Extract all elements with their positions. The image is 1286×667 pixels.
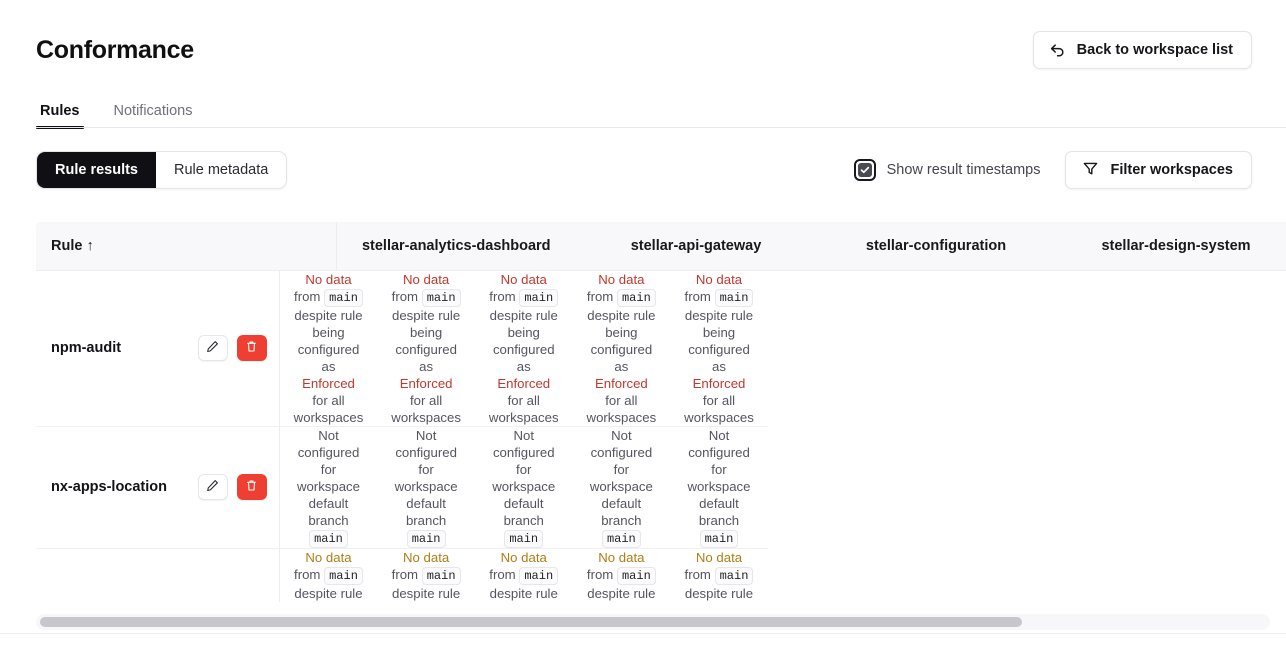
trash-icon <box>245 340 258 356</box>
result-cell: No data from main despite rule being con… <box>573 548 671 602</box>
result-cell: Not configured for workspace default bra… <box>475 426 573 548</box>
branch-chip: main <box>602 530 641 548</box>
no-data-label: No data <box>403 272 449 287</box>
result-cell: No data from main despite rule being con… <box>573 271 671 427</box>
delete-rule-button[interactable] <box>237 335 267 361</box>
branch-chip: main <box>700 530 739 548</box>
column-header-workspace-0[interactable]: stellar-analytics-dashboard <box>336 222 576 270</box>
table-row: nx-apps-locationNot configured for works… <box>36 426 768 548</box>
trash-icon <box>245 479 258 495</box>
result-cell: Not configured for workspace default bra… <box>573 426 671 548</box>
horizontal-scrollbar-track[interactable] <box>36 614 1270 630</box>
segment-rule-metadata[interactable]: Rule metadata <box>156 152 286 188</box>
edit-pencil-icon <box>206 340 219 356</box>
rules-table-viewport: Rule ↑ stellar-analytics-dashboard stell… <box>36 222 1286 602</box>
branch-chip: main <box>407 530 446 548</box>
branch-chip: main <box>324 289 363 307</box>
result-cell: No data from main despite rule being con… <box>670 271 768 427</box>
show-result-timestamps-label: Show result timestamps <box>887 162 1041 178</box>
rule-status-label: Enforced <box>497 376 550 391</box>
result-cell: Not configured for workspace default bra… <box>670 426 768 548</box>
column-header-workspace-2[interactable]: stellar-configuration <box>816 222 1056 270</box>
funnel-icon <box>1082 160 1099 181</box>
page-header: Conformance Back to workspace list <box>0 0 1286 78</box>
branch-chip: main <box>519 289 558 307</box>
rule-name: npm-audit <box>51 340 121 356</box>
toolbar-right-group: Show result timestamps Filter workspaces <box>854 151 1252 189</box>
table-header-row: Rule ↑ stellar-analytics-dashboard stell… <box>36 222 1286 270</box>
rules-table: Rule ↑ stellar-analytics-dashboard stell… <box>36 222 1286 602</box>
no-data-label: No data <box>696 272 742 287</box>
result-cell: No data from main despite rule being con… <box>279 548 377 602</box>
conformance-page: Conformance Back to workspace list Rules… <box>0 0 1286 667</box>
rule-cell: nx-apps-location <box>36 426 279 548</box>
no-data-label: No data <box>696 550 742 565</box>
delete-rule-button[interactable] <box>237 474 267 500</box>
no-data-label: No data <box>501 550 547 565</box>
table-row: use-prettierNo data from main despite ru… <box>36 548 768 602</box>
table-row: npm-auditNo data from main despite rule … <box>36 271 768 427</box>
branch-chip: main <box>519 567 558 585</box>
view-mode-segmented-control: Rule results Rule metadata <box>36 151 287 189</box>
back-to-workspace-list-button[interactable]: Back to workspace list <box>1033 31 1252 69</box>
no-data-label: No data <box>305 272 351 287</box>
branch-chip: main <box>715 289 754 307</box>
rule-status-label: Enforced <box>595 376 648 391</box>
column-header-rule[interactable]: Rule ↑ <box>36 222 336 270</box>
rule-status-label: Enforced <box>302 376 355 391</box>
result-cell: No data from main despite rule being con… <box>377 271 475 427</box>
horizontal-scrollbar-thumb[interactable] <box>40 617 1022 627</box>
bottom-divider <box>0 633 1286 634</box>
no-data-label: No data <box>305 550 351 565</box>
result-cell: Not configured for workspace default bra… <box>279 426 377 548</box>
result-cell: Not configured for workspace default bra… <box>377 426 475 548</box>
tab-bar-divider <box>36 127 1286 128</box>
no-data-label: No data <box>598 550 644 565</box>
result-cell: No data from main despite rule being con… <box>279 271 377 427</box>
edit-rule-button[interactable] <box>198 474 228 500</box>
back-button-label: Back to workspace list <box>1077 42 1233 58</box>
show-result-timestamps-checkbox[interactable]: Show result timestamps <box>854 159 1041 181</box>
branch-chip: main <box>422 567 461 585</box>
edit-pencil-icon <box>206 479 219 495</box>
rule-name: nx-apps-location <box>51 479 167 495</box>
checkbox-checked-icon <box>858 163 872 177</box>
no-data-label: No data <box>501 272 547 287</box>
result-cell: No data from main despite rule being con… <box>377 548 475 602</box>
edit-rule-button[interactable] <box>198 335 228 361</box>
segment-rule-results[interactable]: Rule results <box>37 152 156 188</box>
tab-notifications[interactable]: Notifications <box>110 103 197 128</box>
filter-button-label: Filter workspaces <box>1111 162 1234 178</box>
branch-chip: main <box>324 567 363 585</box>
column-header-workspace-3[interactable]: stellar-design-system <box>1056 222 1286 270</box>
result-cell: No data from main despite rule being con… <box>670 548 768 602</box>
branch-chip: main <box>422 289 461 307</box>
checkbox-focus-ring <box>854 159 876 181</box>
rule-status-label: Enforced <box>693 376 746 391</box>
column-header-rule-label: Rule <box>51 238 82 254</box>
result-cell: No data from main despite rule being con… <box>475 271 573 427</box>
back-arrow-icon <box>1049 42 1066 59</box>
branch-chip: main <box>504 530 543 548</box>
branch-chip: main <box>309 530 348 548</box>
filter-workspaces-button[interactable]: Filter workspaces <box>1065 151 1253 189</box>
sort-ascending-icon: ↑ <box>86 238 93 254</box>
page-title: Conformance <box>36 36 194 65</box>
rule-actions <box>198 474 267 500</box>
no-data-label: No data <box>403 550 449 565</box>
rule-cell: npm-audit <box>36 271 279 427</box>
result-cell: No data from main despite rule being con… <box>475 548 573 602</box>
rule-cell: use-prettier <box>36 548 279 602</box>
column-header-workspace-1[interactable]: stellar-api-gateway <box>576 222 816 270</box>
table-body: npm-auditNo data from main despite rule … <box>36 271 336 603</box>
branch-chip: main <box>617 289 656 307</box>
rule-actions <box>198 335 267 361</box>
rule-status-label: Enforced <box>400 376 453 391</box>
toolbar: Rule results Rule metadata Show result t… <box>0 150 1286 190</box>
tab-rules[interactable]: Rules <box>36 103 84 128</box>
tab-bar: Rules Notifications <box>0 94 1286 128</box>
no-data-label: No data <box>598 272 644 287</box>
branch-chip: main <box>715 567 754 585</box>
branch-chip: main <box>617 567 656 585</box>
